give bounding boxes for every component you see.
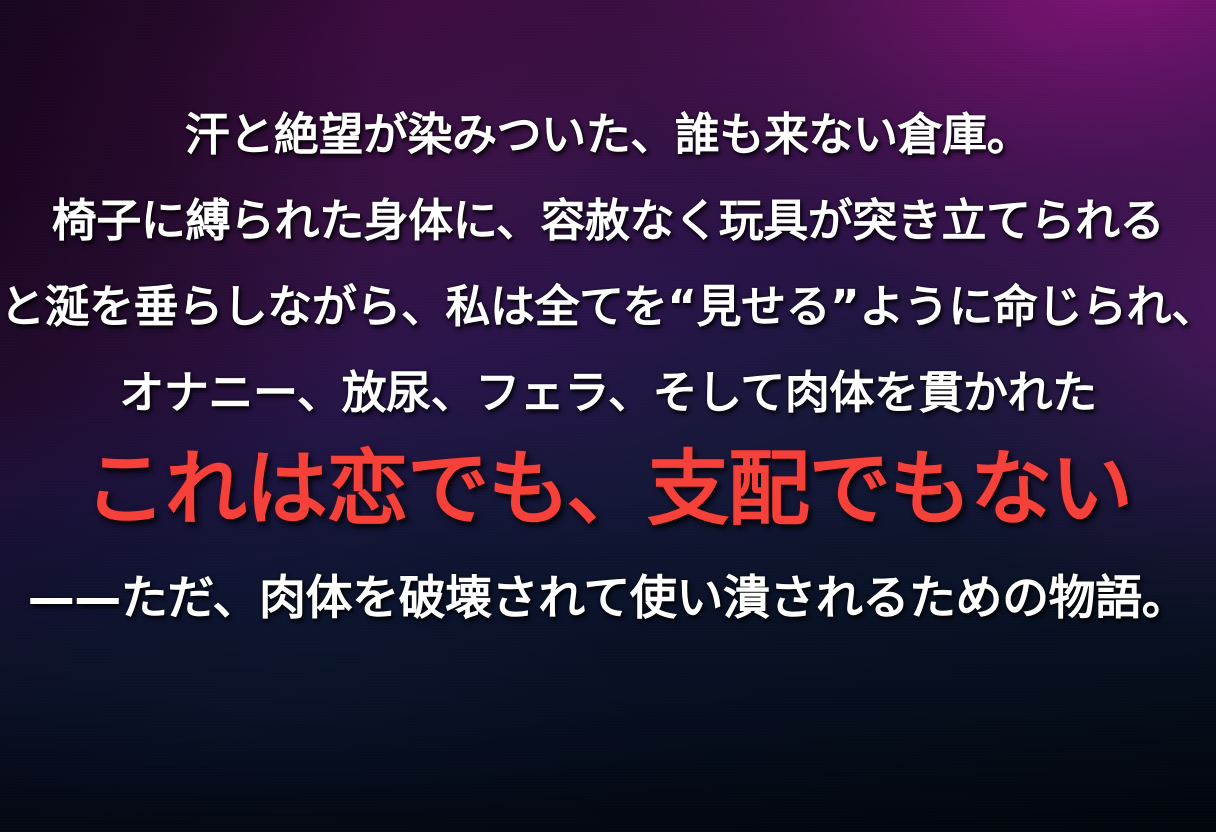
headline-red: これは恋でも、支配でもない [0, 449, 1216, 531]
body-line-2: 椅子に縛られた身体に、容赦なく玩具が突き立てられる [0, 198, 1216, 243]
body-line-3: と涎を垂らしながら、私は全てを“見せる”ように命じられ、 [0, 284, 1216, 329]
body-line-4: オナニー、放尿、フェラ、そして肉体を貫かれた [0, 370, 1216, 415]
body-line-1: 汗と絶望が染みついた、誰も来ない倉庫。 [0, 112, 1216, 157]
poster-text-block: 汗と絶望が染みついた、誰も来ない倉庫。 椅子に縛られた身体に、容赦なく玩具が突き… [0, 0, 1216, 832]
tagline: ——ただ、肉体を破壊されて使い潰されるための物語。 [0, 575, 1216, 622]
poster-canvas: 汗と絶望が染みついた、誰も来ない倉庫。 椅子に縛られた身体に、容赦なく玩具が突き… [0, 0, 1216, 832]
